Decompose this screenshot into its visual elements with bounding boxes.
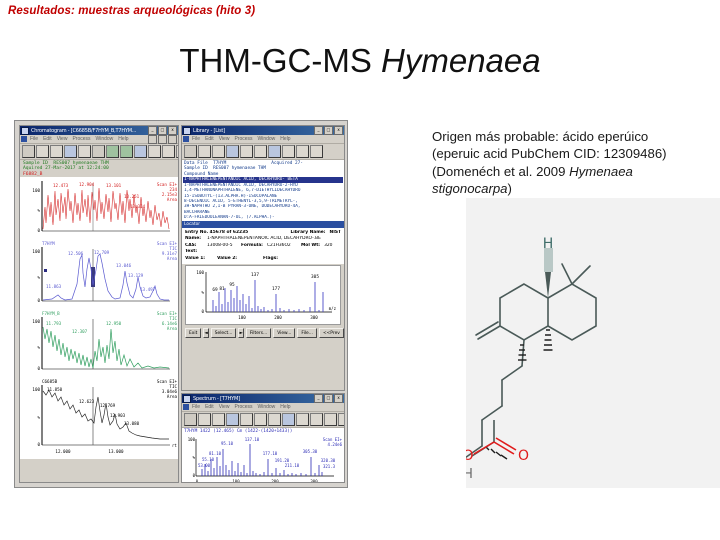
library-menu-file[interactable]: File bbox=[192, 136, 200, 142]
atom-label-h-hydroxyl: H bbox=[466, 467, 473, 482]
peak-label-1: 12.473 bbox=[53, 183, 69, 188]
library-close-icon[interactable]: x bbox=[334, 126, 343, 135]
ms-y-min: 0 bbox=[201, 309, 204, 314]
library-filter-icon[interactable] bbox=[268, 145, 281, 158]
sp-x-200: 200 bbox=[271, 479, 279, 483]
peak-label-d5: 13.080 bbox=[124, 421, 140, 426]
library-title: Library - [List] bbox=[193, 128, 314, 134]
atom-label-o-hydroxyl: O bbox=[466, 448, 474, 464]
peak-label-4: 13.251 bbox=[124, 194, 140, 199]
spectrum-titlebar[interactable]: Spectrum - [T7HYM] _ □ x bbox=[182, 394, 344, 403]
peak-label-b4: 13.129 bbox=[128, 273, 144, 278]
sp-label-211: 211.10 bbox=[285, 463, 300, 468]
spectrum-menu-window[interactable]: Window bbox=[258, 404, 276, 410]
trace-area-d: Area bbox=[167, 394, 178, 399]
peak-label-b1: 12.506 bbox=[68, 251, 84, 256]
structure-svg: H bbox=[466, 198, 720, 488]
spectrum-menu-edit[interactable]: Edit bbox=[205, 404, 214, 410]
sp-label-81: 81.10 bbox=[209, 451, 222, 456]
spectrum-menu-view[interactable]: View bbox=[219, 404, 230, 410]
chromatogram-window[interactable]: Chromatogram - [C6685B/F7HYM_B,T7HYM... … bbox=[19, 125, 179, 483]
peak-label-c2: 12.307 bbox=[72, 329, 88, 334]
atom-label-o-double: O bbox=[518, 448, 529, 464]
maximize-icon[interactable]: □ bbox=[158, 126, 167, 135]
document-icon bbox=[21, 136, 27, 142]
mdi-close-icon[interactable] bbox=[168, 135, 177, 144]
peak-label-2: 12.904 bbox=[79, 182, 95, 187]
sp-label-305: 305.30 bbox=[303, 449, 318, 454]
ms-y-mid: % bbox=[201, 290, 204, 295]
annotate-icon[interactable] bbox=[148, 145, 161, 158]
spectrum-text-icon[interactable] bbox=[296, 413, 309, 426]
spectrum-menu-file[interactable]: File bbox=[192, 404, 200, 410]
spectrum-zoomin-icon[interactable] bbox=[338, 413, 344, 426]
settings-icon[interactable] bbox=[176, 145, 178, 158]
library-app-icon bbox=[183, 127, 191, 135]
library-name-value: NIST bbox=[330, 230, 341, 237]
entry-flags-key: Flags: bbox=[263, 256, 303, 263]
spectrum-peaks-icon[interactable] bbox=[254, 413, 267, 426]
sp-label-320: 320.30 bbox=[321, 458, 336, 463]
spectrum-menubar[interactable]: File Edit View Process Window Help bbox=[182, 403, 344, 412]
spectrum-label-icon[interactable] bbox=[268, 413, 281, 426]
peak-label-c3: 12.950 bbox=[106, 321, 122, 326]
library-search-icon[interactable] bbox=[226, 145, 239, 158]
trace-svg-c6685b: C6685B 11.850 12.623 12.769 12.903 13.08… bbox=[20, 377, 178, 459]
chromatogram-menubar[interactable]: File Edit View Process Window Help bbox=[20, 135, 178, 144]
spectrum-globe-icon[interactable] bbox=[282, 413, 295, 426]
spectrum-camera-icon[interactable] bbox=[212, 413, 225, 426]
chrom-header-line2: Aquired 27-Mar-2017 at 12:24:00 bbox=[23, 166, 109, 171]
caption-line-3: (Domenéch et al. 2009 Hymenaea bbox=[432, 163, 710, 180]
library-file-info: Data File T7HYM Acquired 27- Sample ID R… bbox=[182, 160, 344, 172]
peak-label-c1: 11.793 bbox=[46, 321, 62, 326]
chromatogram-toolbar[interactable] bbox=[20, 144, 178, 160]
trace-panel-f6882b[interactable]: 12.473 12.904 13.101 13.251 13.314 Scan … bbox=[20, 177, 178, 239]
title-species: Hymenaea bbox=[381, 42, 541, 79]
spectrum-app-icon bbox=[183, 395, 191, 403]
spectrum-menu-process[interactable]: Process bbox=[234, 404, 252, 410]
library-window[interactable]: Library - [List] _ □ x File Edit View Pr… bbox=[181, 125, 345, 391]
trace-svg-f6882b: 12.473 12.904 13.101 13.251 13.314 Scan … bbox=[20, 177, 178, 239]
spectrum-copy-icon[interactable] bbox=[240, 413, 253, 426]
y-max-label-d: 100 bbox=[32, 387, 40, 392]
library-menu-process[interactable]: Process bbox=[234, 136, 252, 142]
sp-label-177: 177.10 bbox=[263, 451, 278, 456]
spectrum-scan-header: T7HYM 1422 (12.465) Cm (1422-(1420+1433)… bbox=[182, 428, 344, 435]
y-mid-label: % bbox=[37, 208, 40, 213]
ms-peak-305: 305 bbox=[311, 274, 319, 280]
spectrum-plot[interactable]: 53.00 55.10 81.10 95.10 137.10 177.10 19… bbox=[182, 435, 344, 483]
ms-x-300: 300 bbox=[310, 315, 318, 320]
entry-value2-key: Value 2: bbox=[217, 256, 263, 263]
entry-formula-key: Formula: bbox=[241, 243, 263, 250]
library-mass-spectrum[interactable]: 69 81 95 137 177 305 100 % 0 100 200 bbox=[185, 265, 341, 325]
y-max-label: 100 bbox=[32, 188, 40, 193]
chrom-header-line3: F6882_B bbox=[23, 172, 42, 177]
library-menu-view[interactable]: View bbox=[219, 136, 230, 142]
spectrum-open-icon[interactable] bbox=[184, 413, 197, 426]
exit-button[interactable]: Exit bbox=[185, 328, 201, 338]
y-min-label-c: 0 bbox=[37, 366, 40, 371]
caption-line-1: Origen más probable: ácido eperúico bbox=[432, 128, 710, 145]
sp-x-100: 100 bbox=[232, 479, 240, 483]
caption-line-4: stigonocarpa) bbox=[432, 180, 710, 197]
menu-process[interactable]: Process bbox=[72, 136, 90, 142]
select-prev-button[interactable]: ◄ bbox=[203, 328, 208, 338]
page-title: THM-GC-MS Hymenaea bbox=[0, 42, 720, 80]
spectrum-arrow-icon[interactable] bbox=[310, 413, 323, 426]
library-print-icon[interactable] bbox=[198, 145, 211, 158]
menu-help[interactable]: Help bbox=[118, 136, 128, 142]
peak-label-d3: 12.769 bbox=[100, 403, 116, 408]
y-max-label-c: 100 bbox=[32, 319, 40, 324]
trace-area-c: Area bbox=[167, 326, 178, 331]
caption-line-2: (eperuic acid PubChem CID: 12309486) bbox=[432, 145, 710, 162]
select-next-button[interactable]: ► bbox=[238, 328, 243, 338]
spectrum-menu-help[interactable]: Help bbox=[280, 404, 290, 410]
view-button[interactable]: View... bbox=[273, 328, 295, 338]
slide: Resultados: muestras arqueológicas (hito… bbox=[0, 0, 720, 540]
zoom-icon[interactable] bbox=[162, 145, 175, 158]
spectrum-target-icon[interactable] bbox=[324, 413, 337, 426]
x-tick-2: 13.000 bbox=[108, 449, 124, 454]
library-sample-line: Sample ID RES007 hymenaeae THM bbox=[184, 166, 266, 171]
y-mid-label-d: % bbox=[37, 415, 40, 420]
peak-label-5: 13.314 bbox=[130, 204, 146, 209]
sp-intensity: 4.24e6 bbox=[328, 442, 343, 447]
title-main: THM-GC-MS bbox=[179, 42, 381, 79]
ms-x-100: 100 bbox=[238, 315, 246, 320]
ms-peak-177: 177 bbox=[272, 286, 280, 292]
library-minimize-icon[interactable]: _ bbox=[314, 126, 323, 135]
spectrum-title: Spectrum - [T7HYM] bbox=[193, 396, 314, 402]
entry-molwt-key: Mol Wt: bbox=[301, 243, 320, 250]
camera-icon[interactable] bbox=[50, 145, 63, 158]
entry-molwt-value: 320 bbox=[324, 243, 332, 250]
peak-label-3: 13.101 bbox=[106, 183, 122, 188]
window-controls[interactable]: _ □ x bbox=[148, 126, 177, 135]
library-menu-help[interactable]: Help bbox=[280, 136, 290, 142]
caption-ref: (Domenéch et al. 2009 bbox=[432, 164, 569, 179]
minimize-icon[interactable]: _ bbox=[148, 126, 157, 135]
prev-button[interactable]: <<Prev bbox=[319, 328, 344, 338]
select-button[interactable]: Select... bbox=[211, 328, 237, 338]
sp-y-min: 0 bbox=[193, 473, 196, 478]
sp-y-max: 100 bbox=[188, 437, 196, 442]
entry-cas-value: 13008-00-5 bbox=[207, 243, 241, 250]
peak-icon[interactable] bbox=[106, 145, 119, 158]
ms-peak-81: 81 bbox=[219, 286, 225, 292]
slide-kicker: Resultados: muestras arqueológicas (hito… bbox=[8, 5, 255, 17]
caption-paren: ) bbox=[508, 181, 512, 196]
sp-label-55: 55.10 bbox=[202, 457, 215, 462]
spectrum-print-icon[interactable] bbox=[198, 413, 211, 426]
integrate-icon[interactable] bbox=[120, 145, 133, 158]
caption-species: stigonocarpa bbox=[432, 181, 508, 196]
entry-formula-value: C21H36O2 bbox=[267, 243, 301, 250]
chromatogram-title: Chromatogram - [C6685B/F7HYM_B,T7HYM... bbox=[31, 128, 148, 134]
menu-edit[interactable]: Edit bbox=[43, 136, 52, 142]
spectrum-maximize-icon[interactable]: □ bbox=[324, 394, 333, 403]
copy-icon[interactable] bbox=[78, 145, 91, 158]
trace-panel-t7hym[interactable]: T7HYM 12.506 12.709 13.046 13.129 13.497… bbox=[20, 239, 178, 309]
stereo-hash-methyl bbox=[544, 330, 553, 350]
y-mid-label-b: % bbox=[37, 275, 40, 280]
trace-marker bbox=[44, 269, 47, 272]
peak-label-d2: 12.623 bbox=[79, 399, 95, 404]
file-button[interactable]: File... bbox=[297, 328, 317, 338]
sp-label-95: 95.10 bbox=[221, 441, 234, 446]
peak-label-b2: 12.709 bbox=[94, 250, 110, 255]
trace-panel-f7hymb[interactable]: F7HYM_B 11.793 12.307 12.950 Scan EI+ TI… bbox=[20, 309, 178, 377]
sp-y-mid: % bbox=[193, 455, 196, 460]
y-min-label: 0 bbox=[37, 228, 40, 233]
spectrum-chart-icon[interactable] bbox=[226, 413, 239, 426]
library-document-icon bbox=[183, 136, 189, 142]
mdi-minimize-icon[interactable] bbox=[148, 135, 157, 144]
trace-name-c6685b: C6685B bbox=[42, 379, 58, 384]
locator-titlebar[interactable]: Locator bbox=[182, 221, 344, 228]
sp-label-137: 137.10 bbox=[245, 437, 260, 442]
library-window-controls[interactable]: _ □ x bbox=[314, 126, 343, 135]
library-button-row[interactable]: Exit ◄ Select... ► Filters... View... Fi… bbox=[182, 326, 344, 340]
ms-peak-95: 95 bbox=[229, 282, 235, 288]
trace-svg-t7hym: T7HYM 12.506 12.709 13.046 13.129 13.497… bbox=[20, 239, 178, 309]
library-entry-details: Entry No. 45678 of 62235 Library Name: N… bbox=[182, 228, 344, 265]
library-menubar[interactable]: File Edit View Process Window Help bbox=[182, 135, 344, 144]
library-menu-edit[interactable]: Edit bbox=[205, 136, 214, 142]
entry-value1-key: Value 1: bbox=[185, 256, 217, 263]
peak-label-d1: 11.850 bbox=[47, 387, 63, 392]
spectrum-icon[interactable] bbox=[64, 145, 77, 158]
trace-panel-c6685b[interactable]: C6685B 11.850 12.623 12.769 12.903 13.08… bbox=[20, 377, 178, 459]
filters-button[interactable]: Filters... bbox=[246, 328, 271, 338]
x-axis-label: rt bbox=[172, 443, 177, 448]
spectrum-minimize-icon[interactable]: _ bbox=[314, 394, 323, 403]
library-titlebar[interactable]: Library - [List] _ □ x bbox=[182, 126, 344, 135]
ms-x-label: m/z bbox=[329, 306, 337, 311]
library-compound-list[interactable]: 1-NAPHTHALENEPENTANOIC ACID, DECAHYDRO- … bbox=[182, 177, 344, 220]
x-tick-1: 12.000 bbox=[55, 449, 71, 454]
menu-view[interactable]: View bbox=[57, 136, 68, 142]
y-mid-label-c: % bbox=[37, 345, 40, 350]
mdi-restore-icon[interactable] bbox=[158, 135, 167, 144]
print-icon[interactable] bbox=[36, 145, 49, 158]
peak-label-b5: 13.497 bbox=[140, 287, 156, 292]
gc-ms-software-screenshot: Chromatogram - [C6685B/F7HYM_B,T7HYM... … bbox=[14, 120, 348, 488]
globe-icon[interactable] bbox=[134, 145, 147, 158]
spectrum-window[interactable]: Spectrum - [T7HYM] _ □ x File Edit View … bbox=[181, 393, 345, 483]
library-maximize-icon[interactable]: □ bbox=[324, 126, 333, 135]
sp-label-321: 321.3 bbox=[323, 464, 336, 469]
caption-block: Origen más probable: ácido eperúico (epe… bbox=[432, 128, 710, 198]
ms-peak-69: 69 bbox=[212, 287, 218, 293]
trace-area: Area bbox=[167, 197, 178, 202]
close-icon[interactable]: x bbox=[168, 126, 177, 135]
library-expand-icon[interactable] bbox=[310, 145, 323, 158]
spectrum-window-controls[interactable]: _ □ x bbox=[314, 394, 343, 403]
ms-y-max: 100 bbox=[196, 270, 204, 275]
sp-label-53: 53.00 bbox=[198, 463, 211, 468]
spectrum-plot-svg: 53.00 55.10 81.10 95.10 137.10 177.10 19… bbox=[182, 435, 344, 483]
sp-x-0: 0 bbox=[196, 479, 199, 483]
ms-peak-137: 137 bbox=[251, 272, 259, 278]
library-table-icon[interactable] bbox=[254, 145, 267, 158]
library-toolbar[interactable] bbox=[182, 144, 344, 160]
open-icon[interactable] bbox=[22, 145, 35, 158]
caption-genus: Hymenaea bbox=[569, 164, 633, 179]
entry-values-row: Value 1: Value 2: Flags: bbox=[185, 256, 341, 263]
peak-label-b0: 11.863 bbox=[46, 284, 62, 289]
menu-file[interactable]: File bbox=[30, 136, 38, 142]
library-open-icon[interactable] bbox=[184, 145, 197, 158]
library-grid-icon[interactable] bbox=[282, 145, 295, 158]
menu-window[interactable]: Window bbox=[96, 136, 114, 142]
y-max-label-b: 100 bbox=[32, 249, 40, 254]
library-menu-window[interactable]: Window bbox=[258, 136, 276, 142]
spectrum-document-icon bbox=[183, 404, 189, 410]
library-spectrum-svg: 69 81 95 137 177 305 100 % 0 100 200 bbox=[186, 266, 342, 322]
trace-name-t7hym: T7HYM bbox=[42, 241, 55, 246]
trace-name-f7hymb: F7HYM_B bbox=[42, 311, 60, 316]
atom-label-h: H bbox=[543, 236, 554, 252]
ms-x-200: 200 bbox=[274, 315, 282, 320]
sp-x-300: 300 bbox=[310, 479, 318, 483]
stereo-wedge-h bbox=[544, 248, 553, 298]
trace-area-b: Area bbox=[167, 256, 178, 261]
peak-label-d4: 12.903 bbox=[110, 413, 126, 418]
y-min-label-b: 0 bbox=[37, 298, 40, 303]
library-save-icon[interactable] bbox=[212, 145, 225, 158]
library-list-icon[interactable] bbox=[240, 145, 253, 158]
chromatogram-sample-header: Sample ID RES007 hymenaeae THM Aquired 2… bbox=[20, 160, 178, 177]
chromatogram-titlebar[interactable]: Chromatogram - [C6685B/F7HYM_B,T7HYM... … bbox=[20, 126, 178, 135]
trace-svg-f7hymb: F7HYM_B 11.793 12.307 12.950 Scan EI+ TI… bbox=[20, 309, 178, 377]
peak-label-b3: 13.046 bbox=[116, 263, 132, 268]
spectrum-close-icon[interactable]: x bbox=[334, 394, 343, 403]
library-hash-icon[interactable] bbox=[296, 145, 309, 158]
y-min-label-d: 0 bbox=[37, 442, 40, 447]
mdi-window-controls[interactable] bbox=[148, 135, 177, 144]
eperuic-acid-structure: H bbox=[466, 198, 720, 488]
app-icon bbox=[21, 127, 29, 135]
spectrum-toolbar[interactable] bbox=[182, 412, 344, 428]
undo-icon[interactable] bbox=[92, 145, 105, 158]
